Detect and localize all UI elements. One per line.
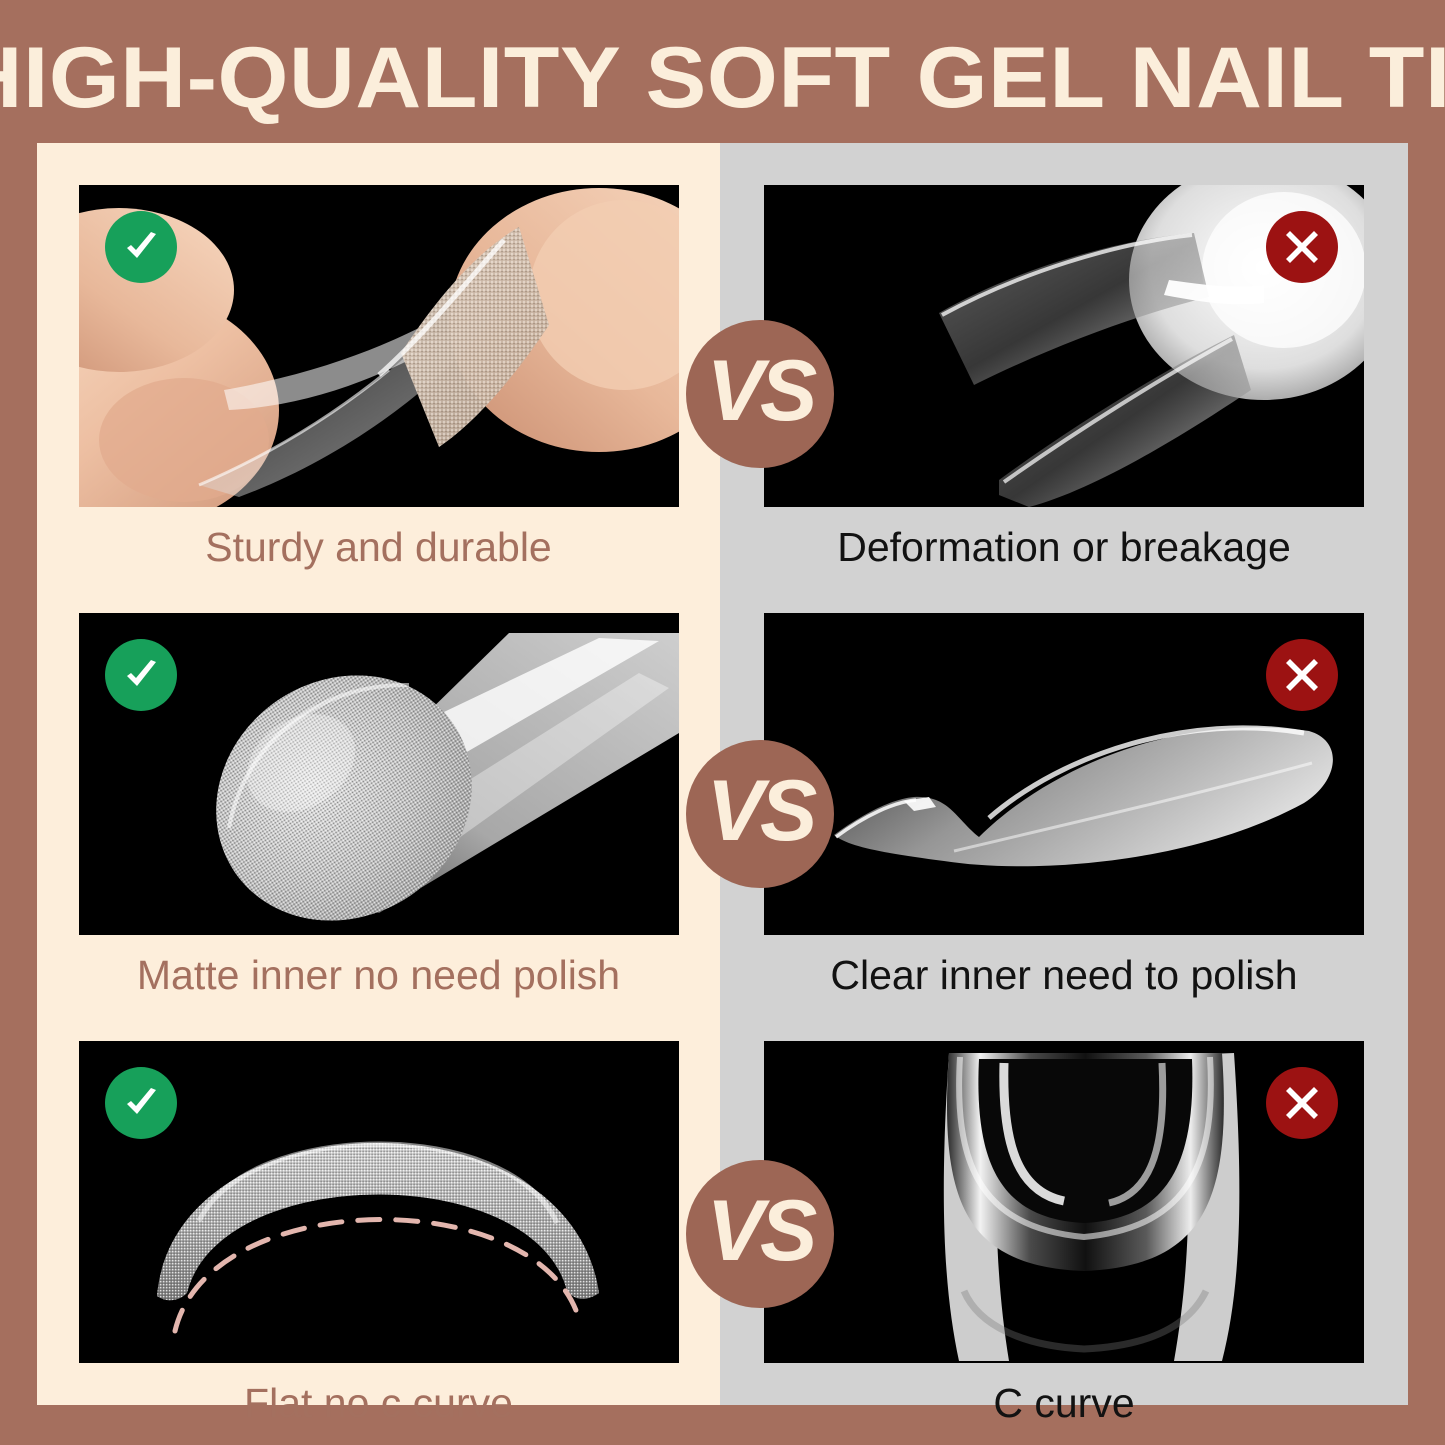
cross-icon [1266, 1067, 1338, 1139]
vs-badge-row-2: VS [686, 740, 834, 888]
comparison-board: Sturdy and durable [37, 143, 1408, 1405]
check-icon [105, 1067, 177, 1139]
vs-label: VS [707, 768, 814, 854]
cell-pros-inner-surface: Matte inner no need polish [37, 571, 720, 999]
infographic-poster: HIGH-QUALITY SOFT GEL NAIL TIPS [0, 0, 1445, 1445]
vs-label: VS [707, 348, 814, 434]
photo-sturdy-and-durable [79, 185, 679, 507]
photo-c-curve [764, 1041, 1364, 1363]
vs-badge-row-3: VS [686, 1160, 834, 1308]
check-icon [105, 639, 177, 711]
vs-label: VS [707, 1188, 814, 1274]
caption-pros-inner-surface: Matte inner no need polish [137, 951, 620, 999]
caption-pros-durability: Sturdy and durable [205, 523, 551, 571]
photo-clear-inner [764, 613, 1364, 935]
caption-pros-c-curve: Flat no c curve [244, 1379, 513, 1427]
cross-icon [1266, 639, 1338, 711]
vs-badge-row-1: VS [686, 320, 834, 468]
caption-cons-inner-surface: Clear inner need to polish [830, 951, 1297, 999]
photo-deformation-or-breakage [764, 185, 1364, 507]
page-title: HIGH-QUALITY SOFT GEL NAIL TIPS [0, 26, 1445, 130]
caption-cons-durability: Deformation or breakage [837, 523, 1291, 571]
cell-pros-c-curve: Flat no c curve [37, 999, 720, 1427]
check-icon [105, 211, 177, 283]
caption-cons-c-curve: C curve [993, 1379, 1134, 1427]
cross-icon [1266, 211, 1338, 283]
cell-pros-durability: Sturdy and durable [37, 143, 720, 571]
pros-panel: Sturdy and durable [37, 143, 720, 1405]
photo-matte-inner [79, 613, 679, 935]
photo-flat-no-c-curve [79, 1041, 679, 1363]
